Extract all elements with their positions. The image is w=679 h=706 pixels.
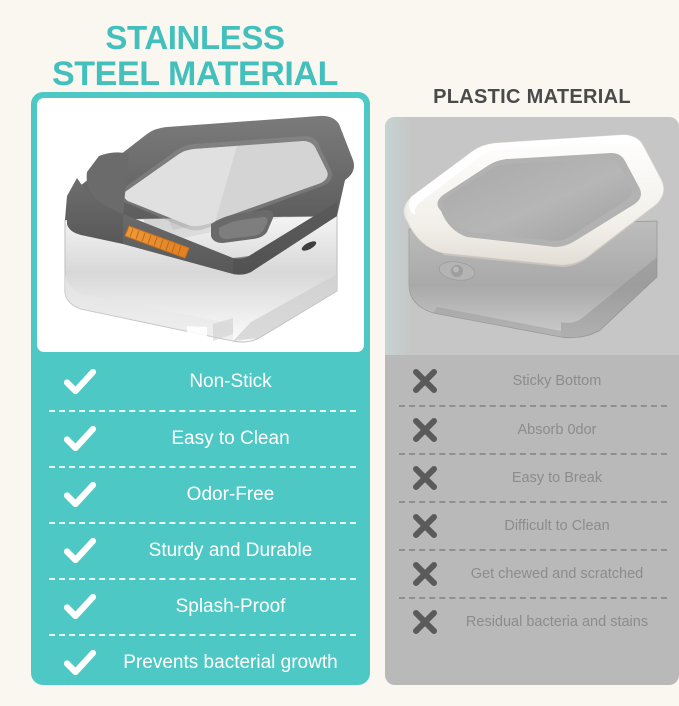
feature-row: Splash-Proof — [49, 578, 356, 634]
feature-label: Sturdy and Durable — [111, 540, 356, 562]
feature-row: Sturdy and Durable — [49, 522, 356, 578]
feature-row: Difficult to Clean — [399, 501, 667, 549]
feature-label: Odor-Free — [111, 484, 356, 506]
feature-label: Prevents bacterial growth — [111, 652, 356, 674]
feature-row: Residual bacteria and stains — [399, 597, 667, 645]
stainless-feature-list: Non-Stick Easy to Clean Odor-Free — [31, 354, 370, 690]
cross-icon — [399, 608, 451, 636]
feature-row: Easy to Break — [399, 453, 667, 501]
feature-row: Easy to Clean — [49, 410, 356, 466]
feature-row: Get chewed and scratched — [399, 549, 667, 597]
plastic-litter-tray-illustration — [385, 117, 679, 355]
check-icon — [49, 650, 111, 676]
check-icon — [49, 594, 111, 620]
plastic-feature-list: Sticky Bottom Absorb 0dor Easy to Break — [385, 357, 679, 645]
feature-label: Residual bacteria and stains — [451, 614, 667, 630]
feature-label: Splash-Proof — [111, 596, 356, 618]
feature-row: Prevents bacterial growth — [49, 634, 356, 690]
feature-label: Difficult to Clean — [451, 518, 667, 534]
feature-label: Absorb 0dor — [451, 422, 667, 438]
cross-icon — [399, 560, 451, 588]
feature-row: Sticky Bottom — [399, 357, 667, 405]
check-icon — [49, 482, 111, 508]
feature-row: Odor-Free — [49, 466, 356, 522]
feature-label: Easy to Break — [451, 470, 667, 486]
plastic-product-image — [385, 117, 679, 355]
feature-row: Absorb 0dor — [399, 405, 667, 453]
feature-label: Get chewed and scratched — [451, 566, 667, 582]
stainless-product-image — [37, 98, 364, 352]
cross-icon — [399, 464, 451, 492]
stainless-title: STAINLESS STEEL MATERIAL — [0, 20, 390, 92]
feature-label: Easy to Clean — [111, 428, 356, 450]
cross-icon — [399, 512, 451, 540]
stainless-title-line-1: STAINLESS — [0, 20, 390, 56]
stainless-panel: Non-Stick Easy to Clean Odor-Free — [31, 92, 370, 685]
stainless-litter-box-illustration — [37, 98, 364, 352]
check-icon — [49, 369, 111, 395]
plastic-panel: Sticky Bottom Absorb 0dor Easy to Break — [385, 117, 679, 685]
cross-icon — [399, 367, 451, 395]
cross-icon — [399, 416, 451, 444]
feature-label: Non-Stick — [111, 371, 356, 393]
plastic-title: PLASTIC MATERIAL — [385, 86, 679, 109]
feature-row: Non-Stick — [49, 354, 356, 410]
check-icon — [49, 538, 111, 564]
stainless-title-line-2: STEEL MATERIAL — [0, 56, 390, 93]
check-icon — [49, 426, 111, 452]
feature-label: Sticky Bottom — [451, 373, 667, 389]
